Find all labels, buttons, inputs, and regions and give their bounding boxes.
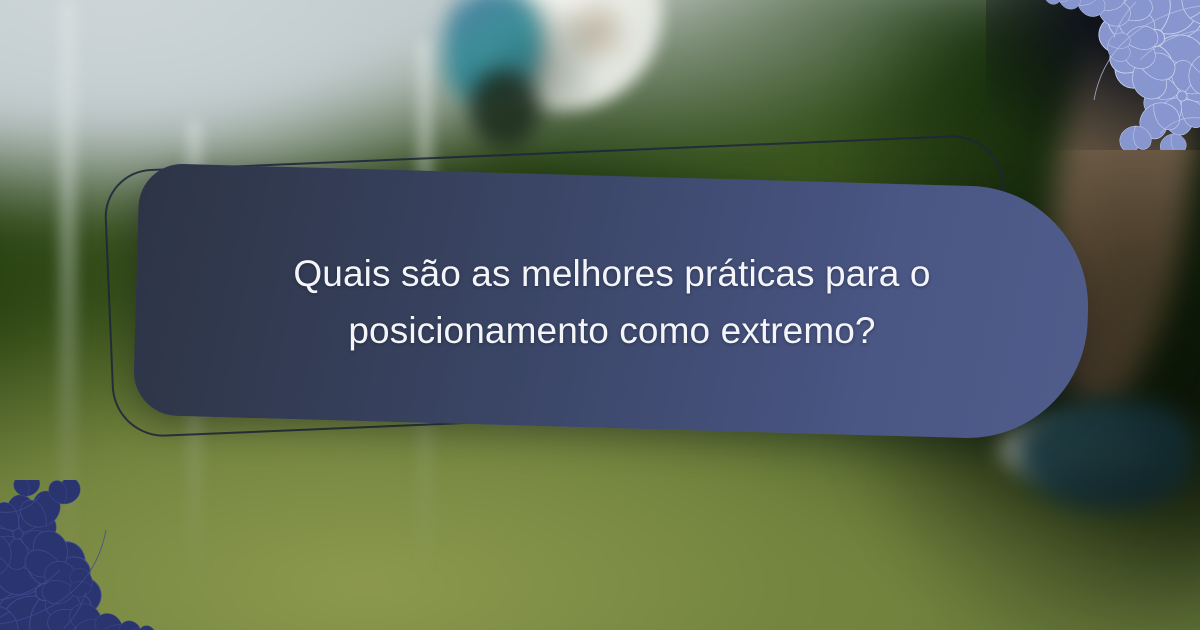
page-title: Quais são as melhores práticas para o po…	[262, 245, 962, 360]
question-card-content: Quais são as melhores práticas para o po…	[262, 245, 962, 360]
goal-post	[60, 0, 76, 630]
soccer-ball-panel	[470, 70, 540, 148]
question-card: Quais são as melhores práticas para o po…	[133, 163, 1092, 441]
share-card-canvas: Quais são as melhores práticas para o po…	[0, 0, 1200, 630]
